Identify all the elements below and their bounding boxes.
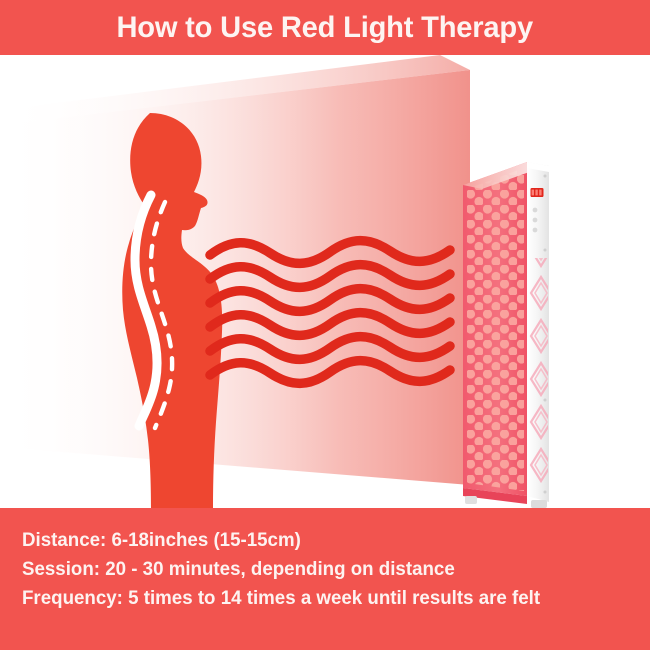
header-band: How to Use Red Light Therapy [0,0,650,55]
control-button [533,228,538,233]
instruction-distance: Distance: 6-18inches (15-15cm) [22,526,625,555]
control-button [533,208,538,213]
therapy-panel-device[interactable] [415,100,580,510]
infographic-poster: How to Use Red Light Therapy [0,0,650,650]
instruction-session: Session: 20 - 30 minutes, depending on d… [22,555,625,584]
footer-instructions: Distance: 6-18inches (15-15cm) Session: … [0,508,650,650]
page-title: How to Use Red Light Therapy [117,13,534,43]
vent-pattern [527,258,548,488]
illustration-stage [0,55,650,510]
instruction-frequency: Frequency: 5 times to 14 times a week un… [22,584,625,613]
control-button [533,218,538,223]
